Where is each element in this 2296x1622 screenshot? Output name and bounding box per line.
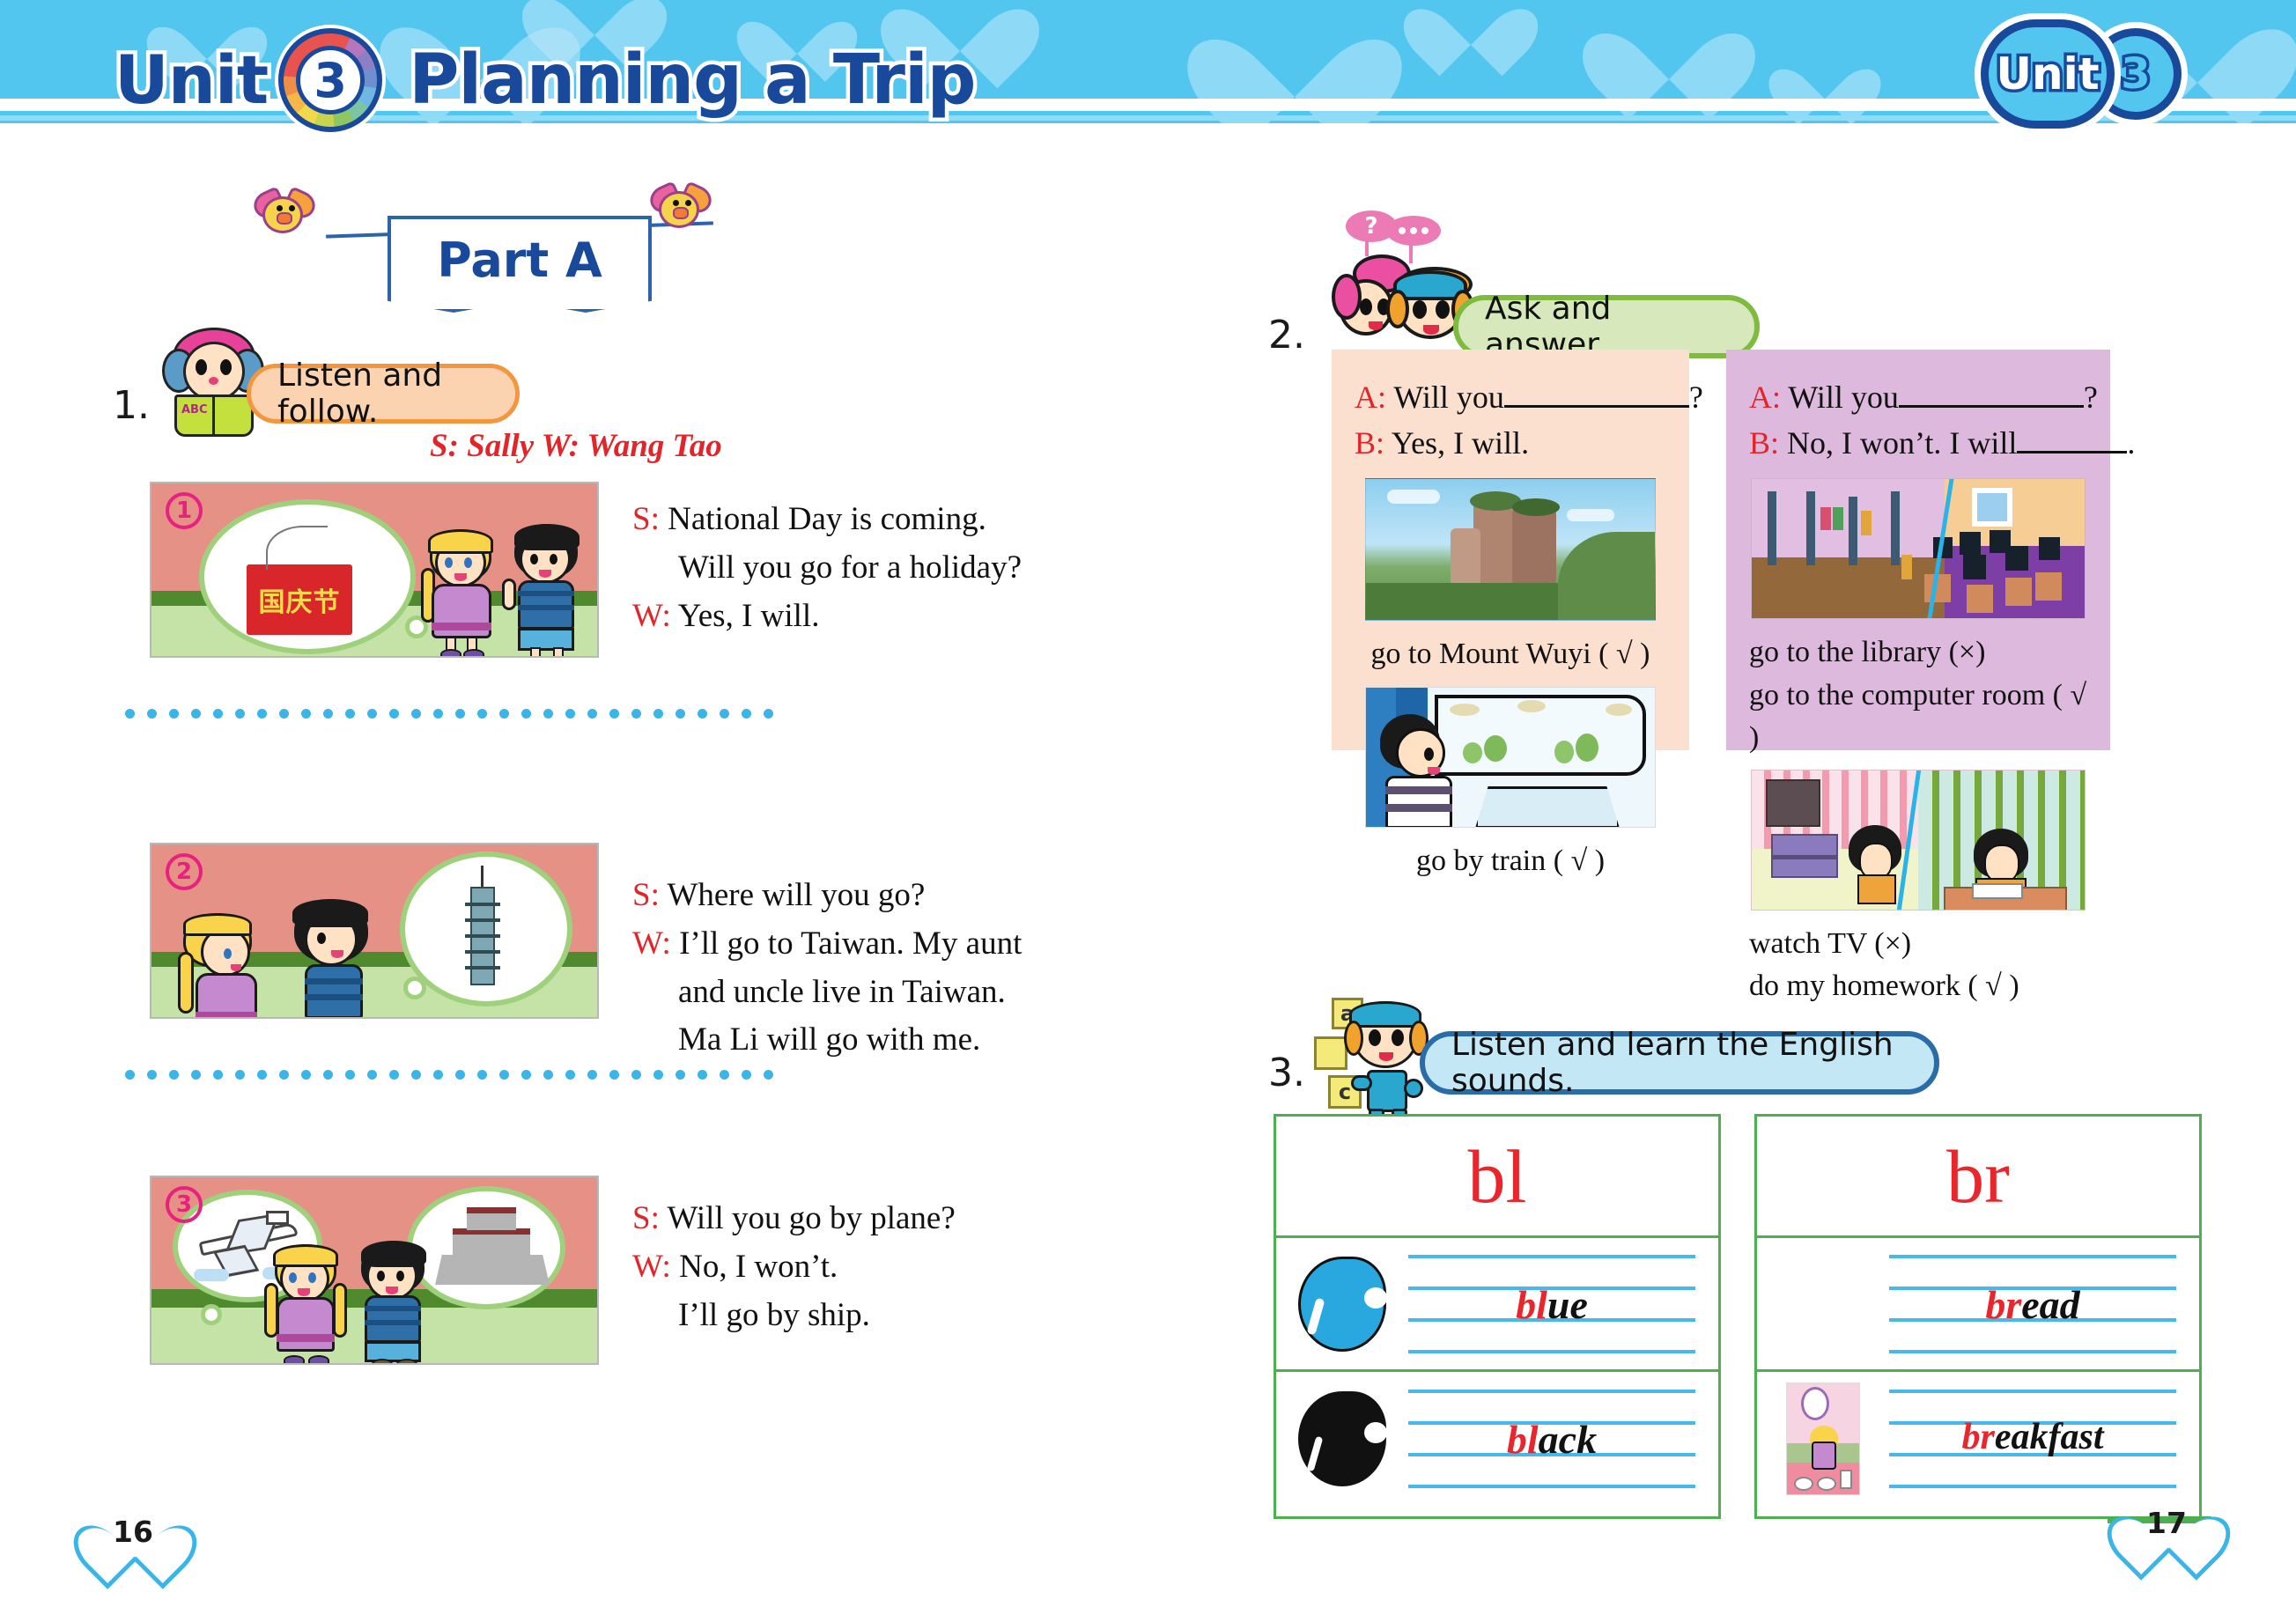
unit-number-wheel-icon: 3 bbox=[275, 25, 386, 136]
caption-do-my-homework: do my homework ( √ ) bbox=[1749, 965, 2087, 1007]
boy-on-train-photo bbox=[1365, 687, 1656, 828]
character-sally bbox=[176, 913, 282, 1019]
unit-word: Unit bbox=[114, 47, 268, 114]
sound-row-bread: bread bbox=[1757, 1238, 2199, 1372]
activity-1-instruction-bubble: Listen and follow. bbox=[247, 364, 520, 424]
sound-bl-label: bl bbox=[1468, 1132, 1527, 1220]
activity-3-number: 3. bbox=[1268, 1051, 1305, 1095]
dialogue-line: Will you go by plane? bbox=[667, 1200, 955, 1236]
dialogue-line: I’ll go to Taiwan. My aunt bbox=[679, 925, 1022, 962]
ask-answer-card-peach: A: Will you? B: Yes, I will. go to Mount… bbox=[1332, 350, 1689, 750]
comic-panel-3: 3 bbox=[150, 1176, 599, 1365]
blue-blob-icon bbox=[1276, 1238, 1408, 1369]
sound-card-bl: bl blue bbox=[1274, 1114, 1721, 1519]
watch-tv-and-homework-photo bbox=[1751, 770, 2086, 911]
section-divider bbox=[125, 709, 773, 719]
caption-go-to-mount-wuyi: go to Mount Wuyi ( √ ) bbox=[1355, 633, 1666, 675]
dialogue-line: Where will you go? bbox=[667, 877, 925, 913]
panel-badge: 3 bbox=[166, 1186, 203, 1223]
speaker-label: S: bbox=[632, 1200, 660, 1236]
unit-title-group: Unit 3 Planning a Trip bbox=[114, 25, 976, 136]
caption-go-by-train: go by train ( √ ) bbox=[1355, 840, 1666, 882]
caption-go-to-computer-room: go to the computer room ( √ ) bbox=[1749, 675, 2087, 760]
word-breakfast: breakfast bbox=[1889, 1416, 2176, 1458]
mount-wuyi-photo bbox=[1365, 478, 1656, 621]
dialogue-line: and uncle live in Taiwan. bbox=[678, 974, 1006, 1010]
handwriting-lines: black bbox=[1408, 1390, 1695, 1488]
blank-field[interactable] bbox=[1899, 405, 2084, 408]
speaker-label: B: bbox=[1749, 425, 1779, 461]
blank-field[interactable] bbox=[1504, 405, 1689, 408]
answer-text: Yes, I will. bbox=[1392, 425, 1529, 461]
period: . bbox=[2127, 425, 2135, 461]
heart-decoration bbox=[1612, 0, 1726, 100]
character-sally bbox=[261, 1244, 358, 1365]
top-banner: Unit 3 Planning a Trip Unit 3 bbox=[0, 0, 2296, 163]
library-and-computer-room-photo bbox=[1751, 478, 2086, 619]
card-line-a: A: Will you? bbox=[1355, 374, 1666, 420]
empty-picture-slot bbox=[1757, 1238, 1889, 1369]
character-wang-tao bbox=[278, 899, 393, 1019]
speaker-label: W: bbox=[632, 1249, 671, 1285]
left-page: Part A 1. ABC Listen and follow. S: Sall… bbox=[0, 163, 1145, 1622]
unit-number: 3 bbox=[296, 46, 365, 114]
word-blue: blue bbox=[1408, 1281, 1695, 1328]
blank-field[interactable] bbox=[2017, 451, 2127, 453]
word-black: black bbox=[1408, 1416, 1695, 1463]
thought-bubble-dot bbox=[403, 977, 426, 999]
card-line-a: A: Will you? bbox=[1749, 374, 2087, 420]
speaker-label: W: bbox=[632, 925, 671, 962]
unit-title: Planning a Trip bbox=[409, 46, 975, 114]
handwriting-lines: blue bbox=[1408, 1255, 1695, 1353]
sound-br-label: br bbox=[1946, 1132, 2010, 1220]
panel-badge: 1 bbox=[166, 492, 203, 529]
speaker-label: S: bbox=[632, 877, 660, 913]
card-line-b: B: No, I won’t. I will. bbox=[1749, 420, 2087, 466]
answer-text: No, I won’t. I will bbox=[1787, 425, 2017, 461]
page-number-left: 16 bbox=[95, 1497, 171, 1566]
heart-decoration bbox=[1427, 0, 1515, 62]
comic-panel-2: 2 bbox=[150, 843, 599, 1019]
panel-1-dialogue: S: National Day is coming. Will you go f… bbox=[632, 496, 1022, 640]
page-number-right: 17 bbox=[2129, 1488, 2204, 1557]
speaker-label: A: bbox=[1355, 380, 1386, 415]
part-a-label: Part A bbox=[437, 232, 602, 288]
national-day-flag-text: 国庆节 bbox=[259, 580, 341, 619]
speaker-label: A: bbox=[1749, 380, 1781, 415]
breakfast-photo bbox=[1757, 1372, 1889, 1506]
thought-bubble-dot bbox=[201, 1304, 222, 1325]
activity-3-instruction-bubble: Listen and learn the English sounds. bbox=[1420, 1031, 1939, 1095]
panel-2-dialogue: S: Where will you go? W: I’ll go to Taiw… bbox=[632, 872, 1022, 1065]
textbook-spread: Unit 3 Planning a Trip Unit 3 bbox=[0, 0, 2296, 1622]
comic-panel-1: 1 国庆节 bbox=[150, 482, 599, 658]
corner-unit-word: Unit bbox=[1996, 48, 2099, 100]
part-a-sign: Part A bbox=[388, 216, 652, 313]
handwriting-lines: bread bbox=[1889, 1255, 2176, 1353]
black-blob-icon bbox=[1276, 1372, 1408, 1506]
activity-3-instruction: Listen and learn the English sounds. bbox=[1451, 1027, 1908, 1099]
activity-2-number: 2. bbox=[1268, 313, 1305, 358]
activity-1-number: 1. bbox=[113, 383, 150, 428]
bird-icon bbox=[652, 184, 710, 233]
dialogue-line: Ma Li will go with me. bbox=[678, 1021, 980, 1058]
dialogue-line: National Day is coming. bbox=[668, 501, 986, 537]
corner-unit-number: 3 bbox=[2121, 49, 2150, 99]
speakers-key: S: Sally W: Wang Tao bbox=[430, 427, 722, 465]
page-number-value: 16 bbox=[95, 1515, 171, 1549]
sound-row-breakfast: breakfast bbox=[1757, 1372, 2199, 1506]
two-kids-mascot-icon: ? bbox=[1321, 262, 1480, 358]
panel-3-dialogue: S: Will you go by plane? W: No, I won’t.… bbox=[632, 1195, 956, 1339]
question-mark: ? bbox=[2084, 380, 2098, 415]
activity-1-instruction: Listen and follow. bbox=[277, 358, 489, 430]
question-mark: ? bbox=[1689, 380, 1703, 415]
thought-bubble bbox=[400, 852, 572, 1006]
sound-row-black: black bbox=[1276, 1372, 1718, 1506]
corner-unit-badge: Unit 3 bbox=[1981, 19, 2182, 129]
panel-badge: 2 bbox=[166, 853, 203, 890]
dialogue-line: Yes, I will. bbox=[678, 598, 820, 634]
dialogue-line: Will you go for a holiday? bbox=[678, 549, 1022, 586]
right-page: 2. ? Ask and ans bbox=[1145, 163, 2296, 1622]
question-text: Will you bbox=[1393, 380, 1504, 415]
handwriting-lines: breakfast bbox=[1889, 1390, 2176, 1488]
card-line-b: B: Yes, I will. bbox=[1355, 420, 1666, 466]
speaker-label: S: bbox=[632, 501, 660, 537]
dialogue-line: No, I won’t. bbox=[679, 1249, 838, 1285]
speaker-label: W: bbox=[632, 598, 671, 634]
bird-icon bbox=[255, 189, 314, 239]
section-divider bbox=[125, 1070, 773, 1080]
thought-bubble: 国庆节 bbox=[199, 499, 416, 654]
character-wang-tao bbox=[502, 524, 599, 658]
word-bread: bread bbox=[1889, 1281, 2176, 1328]
character-sally bbox=[416, 529, 513, 658]
caption-watch-tv: watch TV (×) bbox=[1749, 923, 2087, 965]
ask-answer-card-lilac: A: Will you? B: No, I won’t. I will. bbox=[1726, 350, 2110, 750]
sound-row-blue: blue bbox=[1276, 1238, 1718, 1372]
caption-go-to-library: go to the library (×) bbox=[1749, 631, 2087, 674]
abc-blocks-mascot-icon: a c bbox=[1319, 998, 1434, 1121]
dialogue-line: I’ll go by ship. bbox=[678, 1297, 870, 1333]
page-number-value: 17 bbox=[2129, 1506, 2204, 1540]
sound-card-br: br bread bbox=[1754, 1114, 2202, 1519]
character-wang-tao bbox=[349, 1241, 446, 1365]
speaker-label: B: bbox=[1355, 425, 1384, 461]
question-text: Will you bbox=[1788, 380, 1899, 415]
